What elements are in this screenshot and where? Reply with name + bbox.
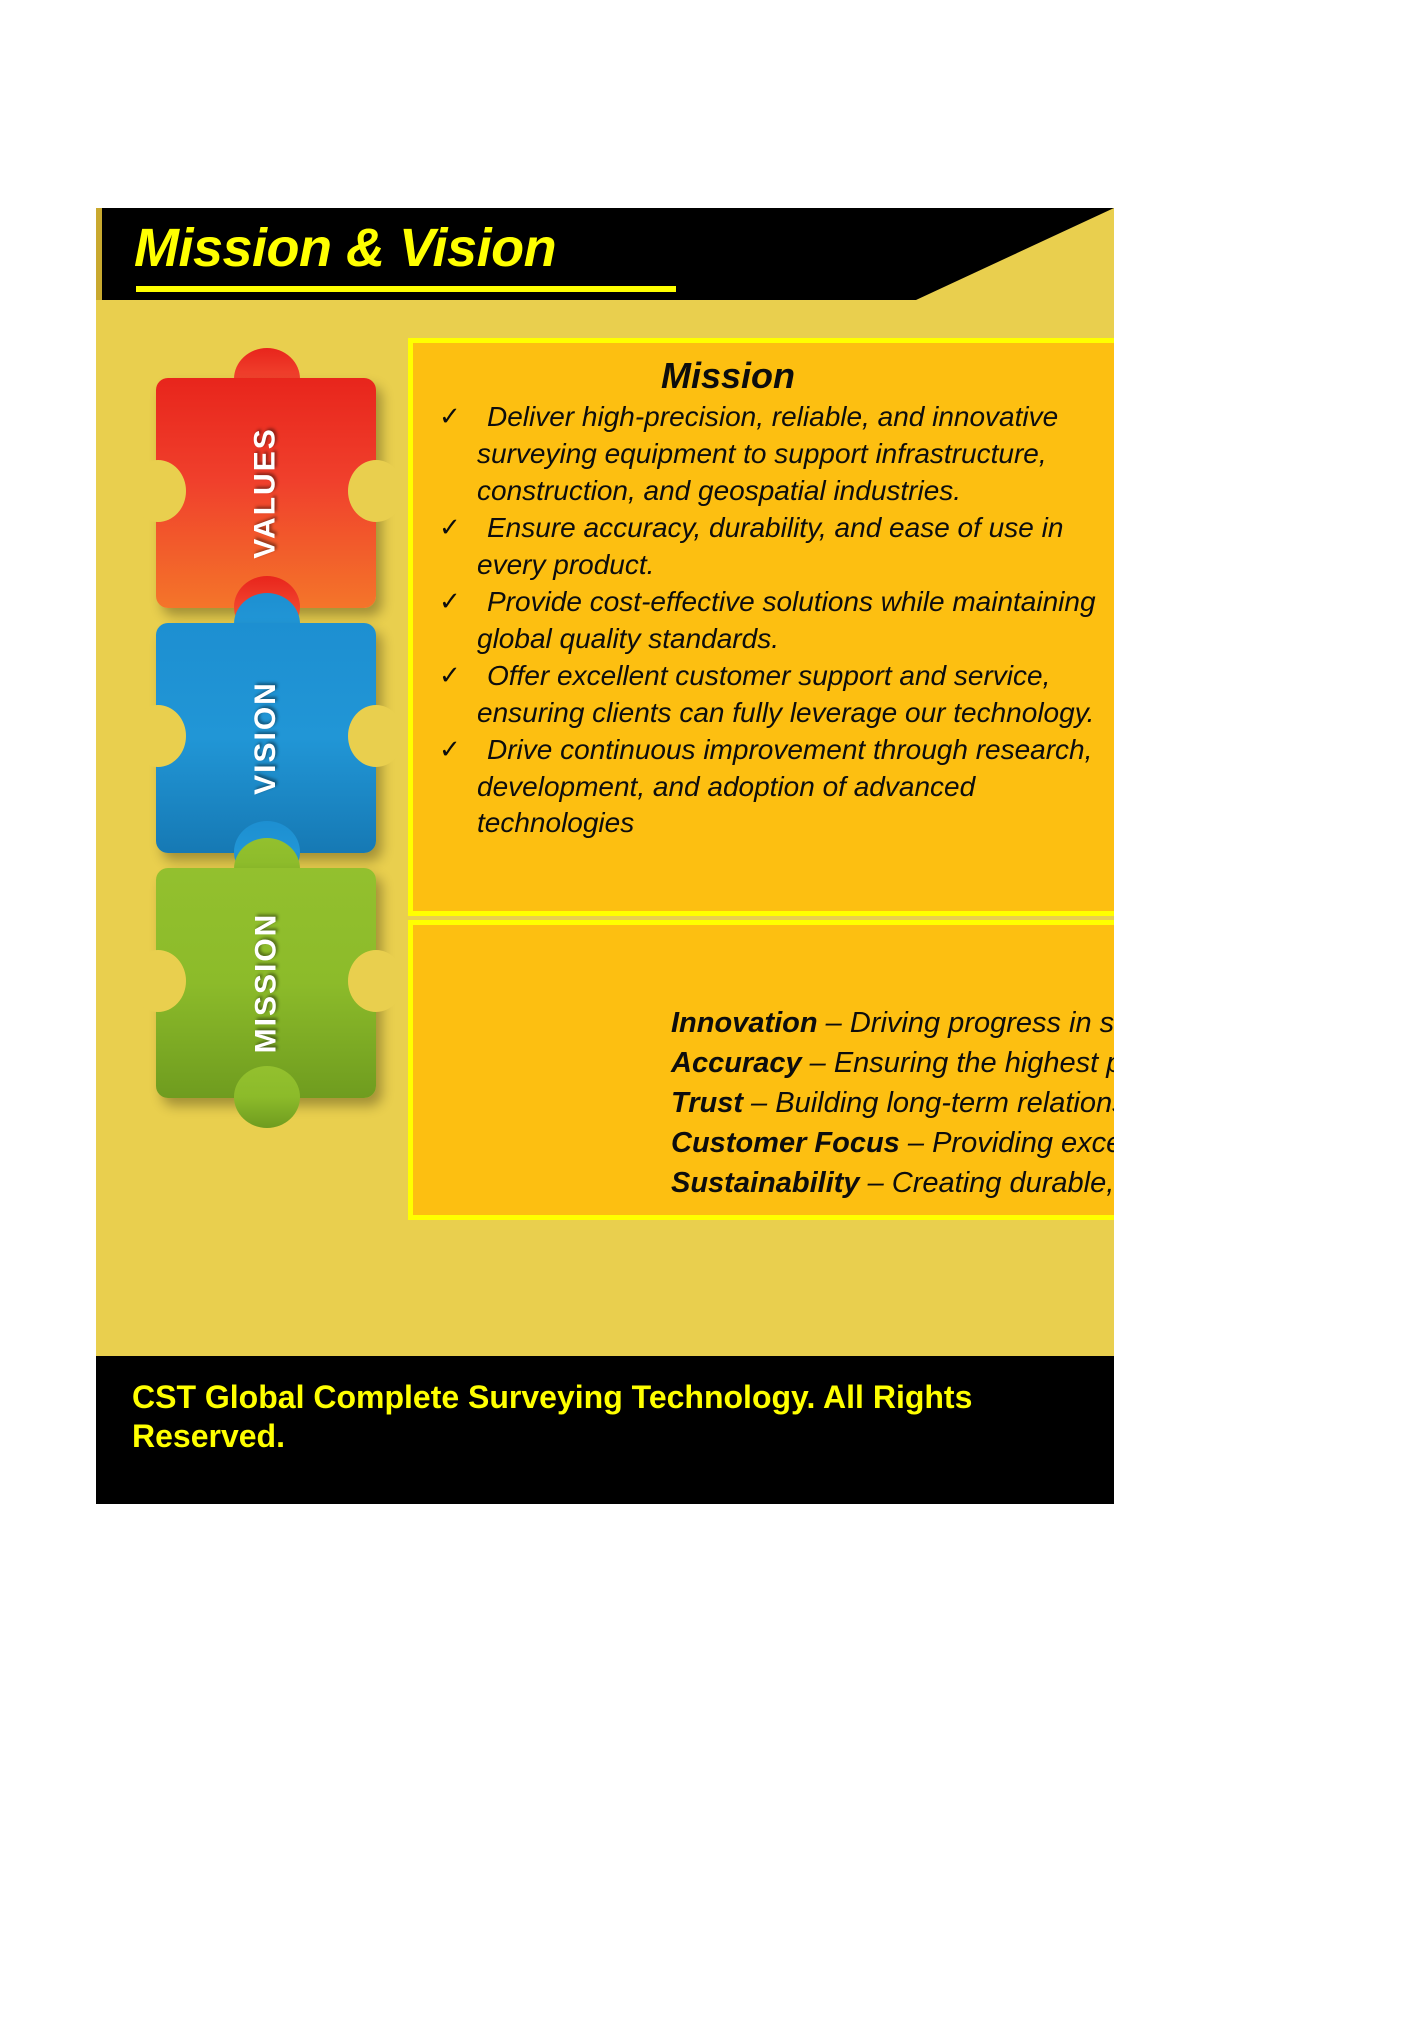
footer-bar: CST Global Complete Surveying Technology… bbox=[96, 1356, 1114, 1504]
check-icon: ✓ bbox=[439, 658, 461, 692]
value-name: Sustainability bbox=[671, 1167, 860, 1199]
value-item: Customer Focus – Providing exceptional s… bbox=[671, 1123, 1114, 1163]
puzzle-piece-label: MISSION bbox=[249, 913, 283, 1054]
value-name: Trust bbox=[671, 1087, 743, 1119]
mission-bullet-line: surveying equipment to support infrastru… bbox=[477, 436, 1114, 473]
mission-heading: Mission bbox=[413, 355, 1114, 397]
slide-canvas: Mission & Vision VALUES VISION MISSION bbox=[96, 208, 1114, 1356]
title-banner-edge bbox=[96, 208, 102, 300]
value-description: – Ensuring the highest precision in ever… bbox=[802, 1047, 1114, 1079]
check-icon: ✓ bbox=[439, 510, 461, 544]
check-icon: ✓ bbox=[439, 584, 461, 618]
mission-bullet-line: ensuring clients can fully leverage our … bbox=[477, 695, 1114, 732]
check-icon: ✓ bbox=[439, 399, 461, 433]
values-list: Innovation – Driving progress in surveyi… bbox=[671, 1003, 1114, 1203]
puzzle-piece-label: VISION bbox=[249, 681, 283, 795]
mission-bullet-line: every product. bbox=[477, 547, 1114, 584]
mission-bullet-line: Offer excellent customer support and ser… bbox=[487, 660, 1050, 691]
puzzle-piece-label-wrap: VISION bbox=[156, 623, 376, 853]
value-item: Sustainability – Creating durable, effic… bbox=[671, 1163, 1114, 1203]
value-description: – Driving progress in surveying technolo… bbox=[818, 1007, 1114, 1039]
mission-bullet-line: global quality standards. bbox=[477, 621, 1114, 658]
mission-bullet-line: Deliver high-precision, reliable, and in… bbox=[487, 401, 1058, 432]
value-item: Trust – Building long-term relationships… bbox=[671, 1083, 1114, 1123]
value-item: Accuracy – Ensuring the highest precisio… bbox=[671, 1043, 1114, 1083]
value-description: – Creating durable, efficient solutions. bbox=[860, 1167, 1114, 1199]
mission-bullet-line: technologies bbox=[477, 805, 1114, 842]
values-panel: Innovation – Driving progress in surveyi… bbox=[408, 920, 1114, 1220]
mission-bullet-line: Provide cost-effective solutions while m… bbox=[487, 586, 1096, 617]
mission-bullet-item: ✓Deliver high-precision, reliable, and i… bbox=[431, 399, 1114, 510]
value-description: – Providing exceptional service and supp… bbox=[900, 1127, 1114, 1159]
mission-bullet-line: Ensure accuracy, durability, and ease of… bbox=[487, 512, 1063, 543]
mission-bullet-list: ✓Deliver high-precision, reliable, and i… bbox=[413, 399, 1114, 842]
value-name: Customer Focus bbox=[671, 1127, 900, 1159]
mission-bullet-item: ✓Ensure accuracy, durability, and ease o… bbox=[431, 510, 1114, 584]
mission-panel: Mission ✓Deliver high-precision, reliabl… bbox=[408, 338, 1114, 916]
value-name: Innovation bbox=[671, 1007, 818, 1039]
mission-bullet-line: construction, and geospatial industries. bbox=[477, 473, 1114, 510]
mission-bullet-line: Drive continuous improvement through res… bbox=[487, 734, 1092, 765]
mission-bullet-item: ✓Offer excellent customer support and se… bbox=[431, 658, 1114, 732]
mission-bullet-item: ✓Provide cost-effective solutions while … bbox=[431, 584, 1114, 658]
value-name: Accuracy bbox=[671, 1047, 802, 1079]
puzzle-piece-mission: MISSION bbox=[156, 838, 376, 1128]
value-item: Innovation – Driving progress in surveyi… bbox=[671, 1003, 1114, 1043]
value-description: – Building long-term relationships with … bbox=[743, 1087, 1114, 1119]
copyright-text: CST Global Complete Surveying Technology… bbox=[132, 1378, 1012, 1456]
puzzle-piece-label-wrap: MISSION bbox=[156, 868, 376, 1098]
mission-bullet-item: ✓Drive continuous improvement through re… bbox=[431, 732, 1114, 843]
title-underline bbox=[136, 286, 676, 292]
puzzle-graphic: VALUES VISION MISSION bbox=[136, 348, 416, 1168]
page-title: Mission & Vision bbox=[134, 220, 556, 277]
puzzle-piece-label-wrap: VALUES bbox=[156, 378, 376, 608]
check-icon: ✓ bbox=[439, 732, 461, 766]
puzzle-piece-label: VALUES bbox=[249, 427, 283, 558]
mission-bullet-line: development, and adoption of advanced bbox=[477, 769, 1114, 806]
